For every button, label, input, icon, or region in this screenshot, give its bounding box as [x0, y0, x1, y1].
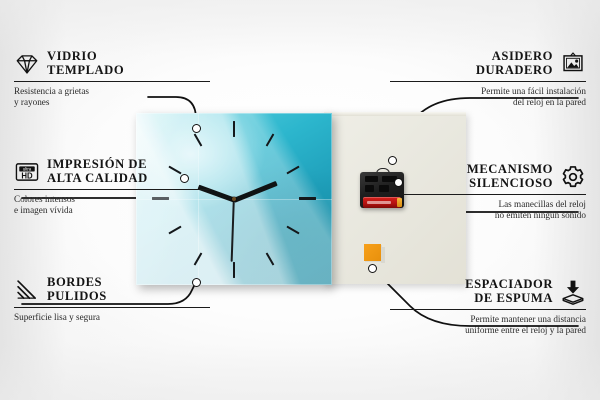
connector-dot-espaciador — [368, 264, 377, 273]
feature-description: Superficie lisa y segura — [14, 312, 210, 323]
foam-spacer — [364, 244, 381, 261]
ultra-hd-icon: ultra HD — [14, 159, 40, 185]
svg-text:HD: HD — [21, 171, 33, 180]
movement-vent-4 — [379, 185, 389, 192]
divider — [14, 81, 210, 82]
arrow-on-layer-icon — [560, 279, 586, 305]
movement-vent-1 — [365, 176, 378, 182]
divider — [14, 307, 210, 308]
feature-vidrio-templado: VIDRIOTEMPLADO Resistencia a grietasy ra… — [14, 50, 210, 107]
movement-vent-3 — [365, 185, 374, 192]
connector-dot-vidrio — [192, 124, 201, 133]
feature-title: MECANISMOSILENCIOSO — [467, 163, 553, 190]
feature-asidero-duradero: ASIDERODURADERO Permite una fácil instal… — [390, 50, 586, 107]
feature-title: VIDRIOTEMPLADO — [47, 50, 124, 77]
feature-bordes-pulidos: BORDESPULIDOS Superficie lisa y segura — [14, 276, 210, 323]
picture-frame-hanger-icon — [560, 51, 586, 77]
feature-impresion-alta-calidad: ultra HD IMPRESIÓN DEALTA CALIDAD Colore… — [14, 158, 210, 215]
gear-icon — [560, 164, 586, 190]
feature-title: ASIDERODURADERO — [476, 50, 553, 77]
foam-spacer-side — [381, 247, 385, 263]
feature-description: Las manecillas del relojno emiten ningún… — [390, 199, 586, 220]
feature-description: Permite una fácil instalacióndel reloj e… — [390, 86, 586, 107]
diamond-icon — [14, 51, 40, 77]
polished-edge-icon — [14, 277, 40, 303]
divider — [14, 189, 210, 190]
feature-description: Permite mantener una distanciauniforme e… — [390, 314, 586, 335]
feature-description: Resistencia a grietasy rayones — [14, 86, 210, 107]
infographic-canvas: VIDRIOTEMPLADO Resistencia a grietasy ra… — [0, 0, 600, 400]
divider — [390, 81, 586, 82]
battery-label-band — [367, 201, 391, 204]
divider — [390, 309, 586, 310]
feature-title: BORDESPULIDOS — [47, 276, 107, 303]
feature-title: ESPACIADORDE ESPUMA — [465, 278, 553, 305]
feature-mecanismo-silencioso: MECANISMOSILENCIOSO Las manecillas del r… — [390, 163, 586, 220]
divider — [390, 194, 586, 195]
feature-espaciador-de-espuma: ESPACIADORDE ESPUMA Permite mantener una… — [390, 278, 586, 335]
back-panel-top-edge — [324, 112, 466, 116]
feature-title: IMPRESIÓN DEALTA CALIDAD — [47, 158, 148, 185]
feature-description: Colores intensose imagen vívida — [14, 194, 210, 215]
